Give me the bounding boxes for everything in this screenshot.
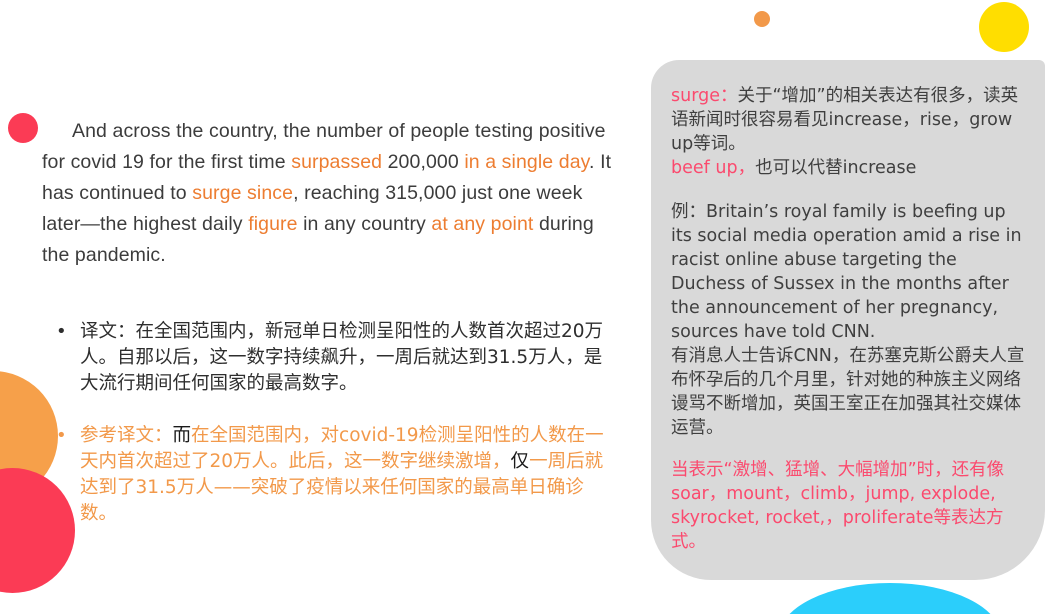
reference-black-char-2: 仅 xyxy=(511,451,530,472)
reference-black-char-1: 而 xyxy=(173,425,192,446)
spacer xyxy=(671,180,1027,200)
example-chinese-text: 有消息人士告诉CNN，在苏塞克斯公爵夫人宣布怀孕后的几个月里，针对她的种族主义网… xyxy=(671,346,1024,438)
translation-bullet-list: •译文：在全国范围内，新冠单日检测呈阳性的人数首次超过20万人。自那以后，这一数… xyxy=(42,319,612,527)
example-english-text: Britain’s royal family is beefing up its… xyxy=(671,202,1022,342)
english-segment-2: 200,000 xyxy=(382,151,464,173)
list-item-translation-reference: •参考译文：而在全国范围内，对covid-19检测呈阳性的人数在一天内首次超过了… xyxy=(42,423,612,527)
note-vocabulary: surge：关于“增加”的相关表达有很多，读英语新闻时很容易看见increase… xyxy=(671,84,1027,180)
vocab-key-surge: surge： xyxy=(671,86,737,106)
highlight-figure: figure xyxy=(248,213,297,235)
decor-circle-cyan-bottom xyxy=(779,583,1001,614)
example-label: 例： xyxy=(671,202,706,222)
reference-segment-1: 参考译文： xyxy=(80,425,173,446)
note-synonyms: 当表示“激增、猛增、大幅增加”时，还有像soar，mount，climb，jum… xyxy=(671,458,1027,554)
decor-circle-yellow-top-right xyxy=(979,2,1029,52)
vocab-key-beef-up: beef up， xyxy=(671,158,755,178)
list-item-translation-primary: •译文：在全国范围内，新冠单日检测呈阳性的人数首次超过20万人。自那以后，这一数… xyxy=(42,319,612,397)
decor-dot-orange-top xyxy=(754,11,770,27)
notes-panel: surge：关于“增加”的相关表达有很多，读英语新闻时很容易看见increase… xyxy=(651,60,1045,580)
bullet-icon: • xyxy=(56,423,67,449)
left-content-column: And across the country, the number of pe… xyxy=(42,96,612,527)
note-example: 例：Britain’s royal family is beefing up i… xyxy=(671,200,1027,440)
english-segment-5: in any country xyxy=(298,213,432,235)
translation-primary-text: 译文：在全国范围内，新冠单日检测呈阳性的人数首次超过20万人。自那以后，这一数字… xyxy=(80,321,603,394)
decor-circle-pink-left xyxy=(8,113,38,143)
highlight-surge-since: surge since xyxy=(192,182,293,204)
vocab-explanation-beef-up: 也可以代替increase xyxy=(755,158,916,178)
highlight-surpassed: surpassed xyxy=(291,151,382,173)
highlight-at-any-point: at any point xyxy=(431,213,533,235)
english-source-paragraph: And across the country, the number of pe… xyxy=(42,116,612,271)
highlight-in-a-single-day: in a single day xyxy=(464,151,589,173)
slide-canvas: And across the country, the number of pe… xyxy=(0,0,1046,614)
bullet-icon: • xyxy=(56,319,67,345)
